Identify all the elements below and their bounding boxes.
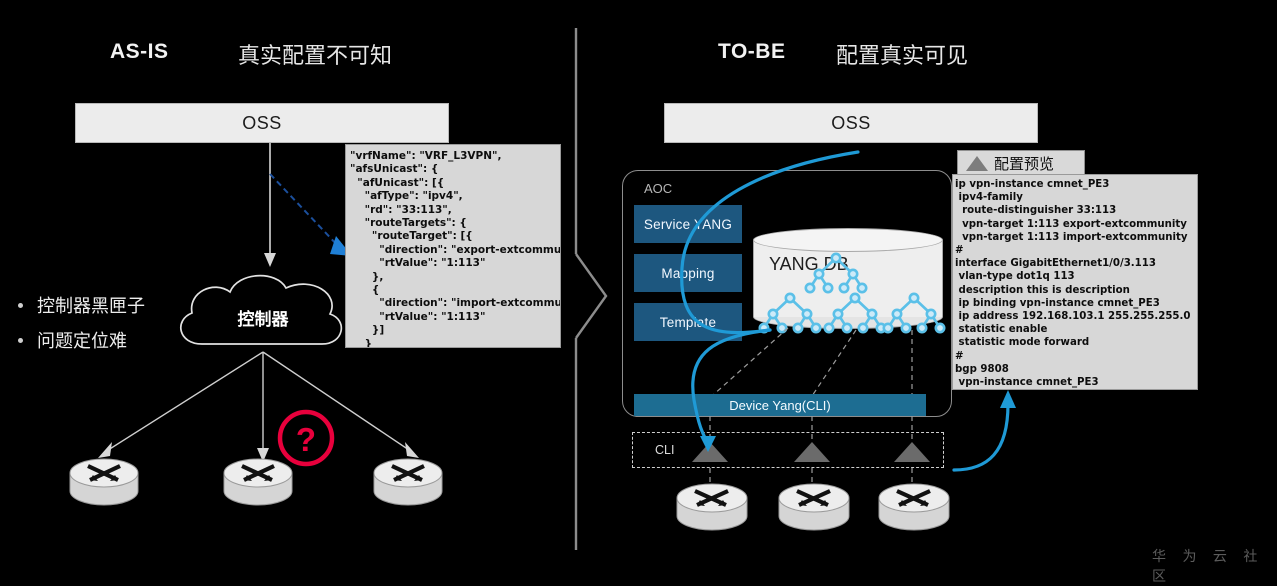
as-is-subheading: 真实配置不可知 bbox=[238, 38, 392, 70]
router-icon[interactable] bbox=[222, 455, 294, 509]
triangle-up-icon bbox=[966, 156, 988, 171]
to-be-subheading: 配置真实可见 bbox=[836, 38, 968, 70]
router-icon[interactable] bbox=[776, 478, 852, 534]
cli-preview-text: ip vpn-instance cmnet_PE3 ipv4-family ro… bbox=[953, 175, 1197, 390]
vrf-json-text: "vrfName": "VRF_L3VPN", "afsUnicast": { … bbox=[346, 145, 560, 348]
svg-text:?: ? bbox=[296, 421, 316, 458]
router-icon[interactable] bbox=[876, 478, 952, 534]
list-item: 控制器黑匣子 bbox=[18, 292, 145, 318]
router-icon[interactable] bbox=[372, 455, 444, 509]
controller-cloud-label: 控制器 bbox=[172, 305, 354, 330]
oss-box-right[interactable]: OSS bbox=[664, 103, 1038, 143]
router-icon[interactable] bbox=[674, 478, 750, 534]
router-icon[interactable] bbox=[68, 455, 140, 509]
slide-canvas: AS-IS 真实配置不可知 TO-BE 配置真实可见 OSS "vrfName"… bbox=[0, 0, 1277, 579]
bullet-dot-icon bbox=[18, 338, 23, 343]
oss-box-left[interactable]: OSS bbox=[75, 103, 449, 143]
oss-label-left: OSS bbox=[242, 113, 282, 134]
preview-tab-title: 配置预览 bbox=[994, 153, 1054, 174]
as-is-device-group bbox=[60, 455, 460, 515]
as-is-bullet-list: 控制器黑匣子 问题定位难 bbox=[18, 292, 145, 353]
as-is-heading: AS-IS bbox=[110, 40, 169, 64]
cli-to-preview-arrow bbox=[946, 378, 1026, 478]
oss-label-right: OSS bbox=[831, 113, 871, 134]
config-flow-curve bbox=[620, 138, 950, 458]
vrf-json-panel[interactable]: "vrfName": "VRF_L3VPN", "afsUnicast": { … bbox=[345, 144, 561, 348]
watermark: 华 为 云 社 区 bbox=[1152, 546, 1277, 586]
bullet-dot-icon bbox=[18, 303, 23, 308]
to-be-heading: TO-BE bbox=[718, 40, 785, 64]
controller-to-devices-arrows bbox=[60, 348, 460, 466]
to-be-device-group bbox=[670, 478, 960, 538]
preview-tab[interactable]: 配置预览 bbox=[957, 150, 1085, 176]
cli-preview-panel[interactable]: ip vpn-instance cmnet_PE3 ipv4-family ro… bbox=[952, 174, 1198, 390]
bullet-text: 控制器黑匣子 bbox=[37, 292, 145, 318]
